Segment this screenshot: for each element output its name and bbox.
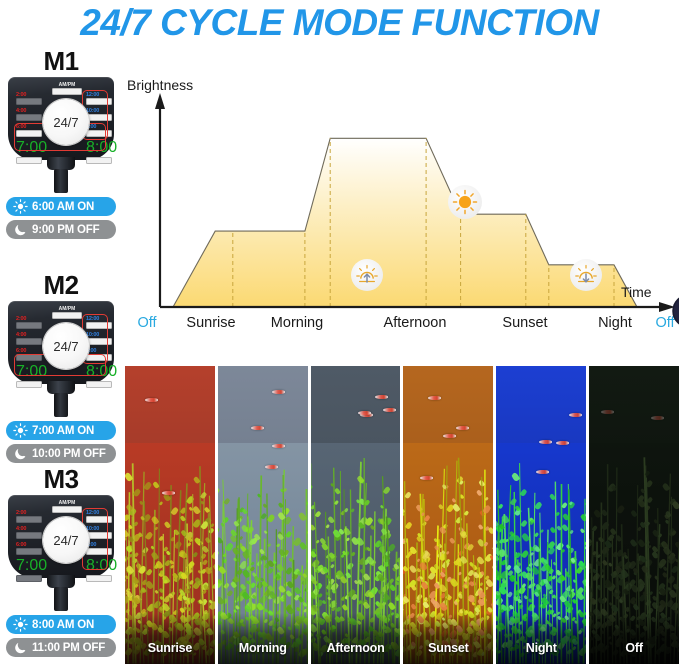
photo-panel-morning: Morning	[218, 366, 308, 664]
device-cord	[54, 393, 68, 417]
photo-panel-off: Off	[589, 366, 679, 664]
mode-dial[interactable]: 24/7	[43, 517, 89, 563]
mode-card-m1: M1 AM/PM 2:00 4:00 6:00 12:00 10:00 8:00…	[0, 48, 122, 239]
mode-title-m3: M3	[0, 466, 122, 493]
fish	[358, 411, 371, 415]
photo-panel-sunrise: Sunrise	[125, 366, 215, 664]
time-button[interactable]	[86, 157, 112, 164]
mode-card-m3: M3 AM/PM 2:00 4:00 6:00 12:00 10:00 8:00…	[0, 466, 122, 657]
time-slot: 2:00	[16, 92, 42, 105]
sunset-icon	[570, 259, 602, 291]
on-time-text: 8:00 AM ON	[32, 619, 94, 631]
fish	[383, 408, 396, 412]
fish	[569, 413, 582, 417]
time-slot: 6:00	[16, 542, 42, 555]
on-time-badge-m3: 8:00 AM ON	[6, 615, 116, 634]
left-time-column: 2:00 4:00 6:00	[16, 510, 42, 558]
panel-floor	[125, 613, 215, 664]
mode-dial[interactable]: 24/7	[43, 99, 89, 145]
fish	[443, 434, 456, 438]
off-time-text: 9:00 PM OFF	[32, 224, 99, 236]
photo-label: Night	[496, 641, 586, 655]
x-tick-label: Off	[137, 315, 157, 330]
ampm-button[interactable]	[52, 312, 82, 319]
timer-device-m1[interactable]: AM/PM 2:00 4:00 6:00 12:00 10:00 8:00 7:…	[3, 77, 119, 193]
device-body: AM/PM 2:00 4:00 6:00 12:00 10:00 8:00 7:…	[8, 495, 114, 578]
x-tick-labels: OffSunriseMorningAfternoonSunsetNightOff	[137, 315, 675, 330]
time-button[interactable]	[16, 322, 42, 329]
device-body: AM/PM 2:00 4:00 6:00 12:00 10:00 8:00 7:…	[8, 77, 114, 160]
fish	[375, 395, 388, 399]
x-tick-label: Off	[655, 315, 675, 330]
timer-device-m2[interactable]: AM/PM 2:00 4:00 6:00 12:00 10:00 8:00 7:…	[3, 301, 119, 417]
photo-panel-afternoon: Afternoon	[311, 366, 401, 664]
photo-label: Sunrise	[125, 641, 215, 655]
y-axis	[155, 93, 165, 307]
time-slot: 4:00	[16, 108, 42, 121]
time-button[interactable]	[16, 381, 42, 388]
ampm-button[interactable]	[52, 88, 82, 95]
ampm-group[interactable]: AM/PM	[52, 306, 82, 319]
photo-panel-night: Night	[496, 366, 586, 664]
time-button[interactable]	[86, 575, 112, 582]
ampm-button[interactable]	[52, 506, 82, 513]
fish	[162, 491, 175, 495]
off-time-text: 10:00 PM OFF	[32, 448, 106, 460]
aquarium-photo-strip: Sunrise Morning Afternoon Sunset Night O…	[125, 366, 679, 664]
mode-card-m2: M2 AM/PM 2:00 4:00 6:00 12:00 10:00 8:00…	[0, 272, 122, 463]
photo-label: Morning	[218, 641, 308, 655]
panel-floor	[218, 613, 308, 664]
on-time-text: 7:00 AM ON	[32, 425, 94, 437]
x-tick-label: Sunset	[502, 315, 547, 330]
y-axis-label: Brightness	[127, 77, 193, 93]
photo-label: Sunset	[403, 641, 493, 655]
fish	[272, 390, 285, 394]
device-cord	[54, 587, 68, 611]
x-tick-label: Morning	[271, 315, 323, 330]
fish	[272, 444, 285, 448]
mode-title-m1: M1	[0, 48, 122, 75]
photo-panel-sunset: Sunset	[403, 366, 493, 664]
time-button[interactable]	[16, 532, 42, 539]
x-tick-label: Afternoon	[384, 315, 447, 330]
time-slot: 4:00	[16, 526, 42, 539]
time-button[interactable]	[16, 575, 42, 582]
sun-icon	[448, 185, 482, 219]
time-slot: 2:00	[16, 316, 42, 329]
off-time-badge-m3: 11:00 PM OFF	[6, 638, 116, 657]
page-title: 24/7 CYCLE MODE FUNCTION	[0, 2, 679, 44]
on-time-text: 6:00 AM ON	[32, 201, 94, 213]
off-time-badge-m1: 9:00 PM OFF	[6, 220, 116, 239]
sun-icon	[13, 199, 28, 214]
sun-icon	[13, 423, 28, 438]
time-slot: 4:00	[16, 332, 42, 345]
ampm-group[interactable]: AM/PM	[52, 82, 82, 95]
fish	[556, 441, 569, 445]
fish	[539, 440, 552, 444]
off-time-text: 11:00 PM OFF	[32, 642, 105, 654]
panel-floor	[589, 613, 679, 664]
ampm-group[interactable]: AM/PM	[52, 500, 82, 513]
panel-floor	[403, 613, 493, 664]
time-button[interactable]	[16, 98, 42, 105]
time-button[interactable]	[16, 114, 42, 121]
on-time-badge-m1: 6:00 AM ON	[6, 197, 116, 216]
device-cord	[54, 169, 68, 193]
brightness-area	[173, 138, 637, 307]
chart-svg: Brightness Time OffSunriseMorningAfterno…	[125, 75, 679, 330]
off-time-badge-m2: 10:00 PM OFF	[6, 444, 116, 463]
time-button[interactable]	[16, 548, 42, 555]
panel-floor	[496, 613, 586, 664]
fish	[265, 465, 278, 469]
photo-label: Afternoon	[311, 641, 401, 655]
photo-label: Off	[589, 641, 679, 655]
moon-icon	[13, 446, 28, 461]
x-axis-label: Time	[621, 284, 652, 300]
panel-floor	[311, 613, 401, 664]
fish	[145, 398, 158, 402]
sunrise-icon	[351, 259, 383, 291]
time-slot: 7:00	[16, 557, 42, 582]
time-label: 7:00	[16, 557, 42, 575]
fish	[428, 396, 441, 400]
mode-title-m2: M2	[0, 272, 122, 299]
mode-dial[interactable]: 24/7	[43, 323, 89, 369]
time-slot: 2:00	[16, 510, 42, 523]
brightness-cycle-chart: Brightness Time OffSunriseMorningAfterno…	[125, 75, 679, 330]
fish	[251, 426, 264, 430]
time-button[interactable]	[16, 157, 42, 164]
sun-icon	[13, 617, 28, 632]
x-tick-label: Night	[598, 315, 632, 330]
timer-device-m3[interactable]: AM/PM 2:00 4:00 6:00 12:00 10:00 8:00 7:…	[3, 495, 119, 611]
x-tick-label: Sunrise	[186, 315, 235, 330]
device-body: AM/PM 2:00 4:00 6:00 12:00 10:00 8:00 7:…	[8, 301, 114, 384]
moon-icon	[13, 640, 28, 655]
moon-icon	[13, 222, 28, 237]
time-button[interactable]	[86, 381, 112, 388]
time-button[interactable]	[16, 338, 42, 345]
time-button[interactable]	[16, 516, 42, 523]
on-time-badge-m2: 7:00 AM ON	[6, 421, 116, 440]
fish	[536, 470, 549, 474]
